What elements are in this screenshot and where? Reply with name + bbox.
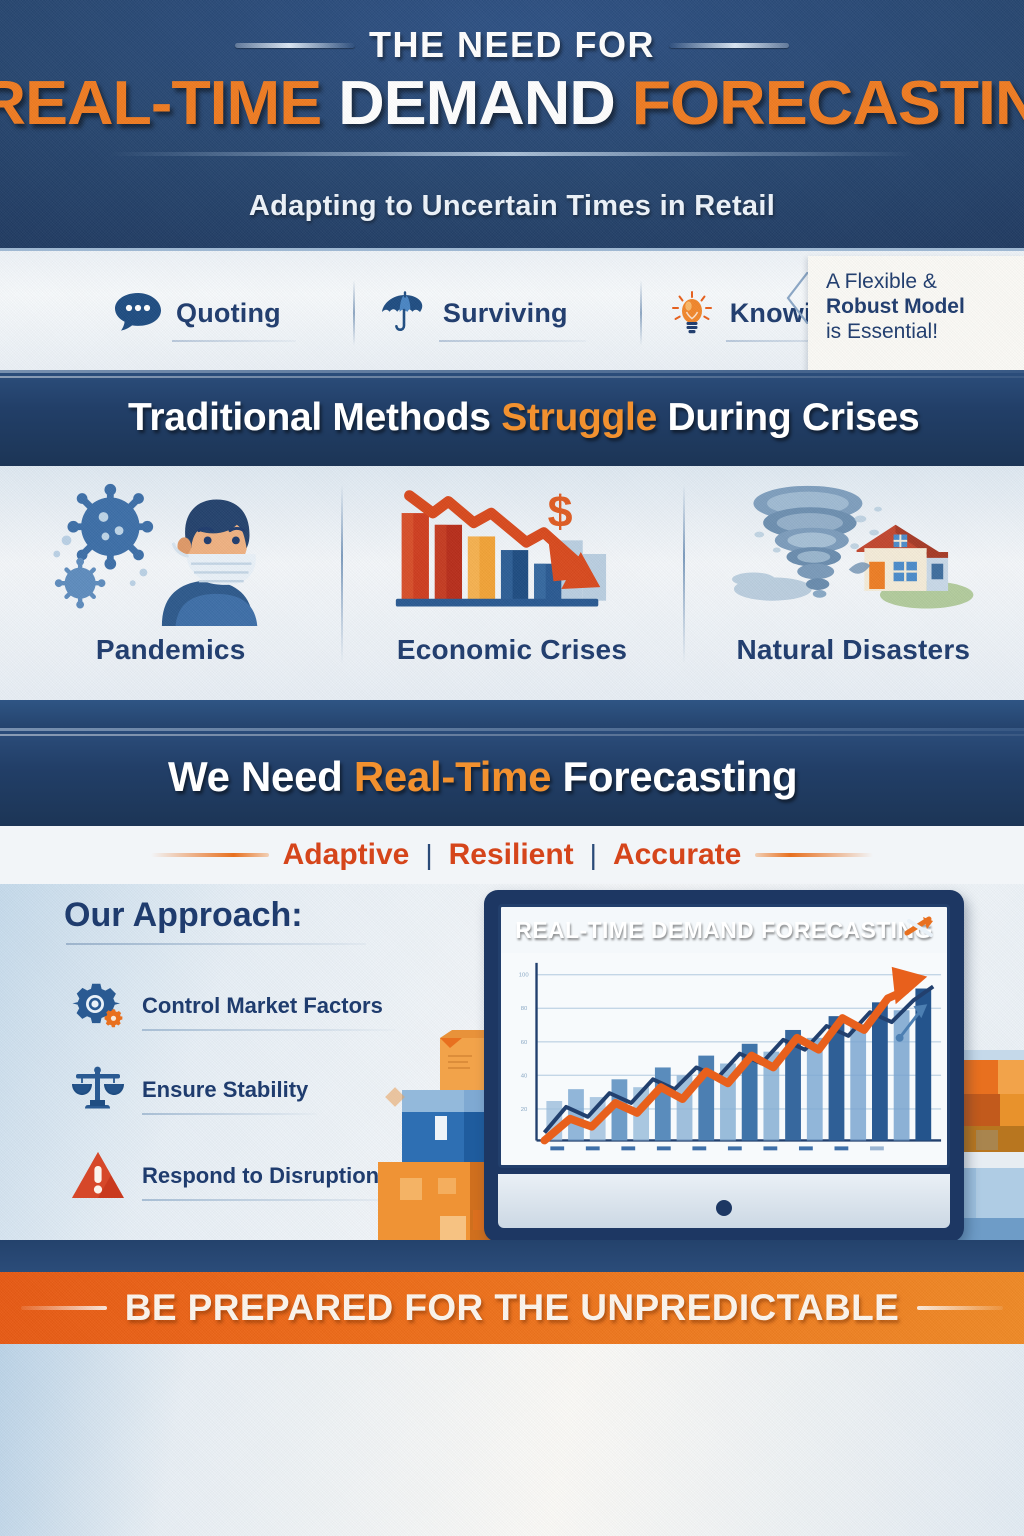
crisis-item-economic[interactable]: $ Economic Crises (341, 466, 682, 710)
approach-item-respond-to-disruptions[interactable]: Respond to Disruptions (70, 1148, 410, 1204)
cta-banner: BE PREPARED FOR THE UNPREDICTABLE (0, 1272, 1024, 1344)
gear-icon (70, 978, 126, 1034)
umbrella-icon (379, 290, 431, 336)
header-eyebrow-row: THE NEED FOR (0, 24, 1024, 66)
concept-chip-quoting[interactable]: Quoting (86, 274, 307, 352)
banner-crises-pre: Traditional Methods (128, 396, 501, 439)
monitor-screen[interactable]: REAL-TIME DEMAND FORECASTING 1008060 (498, 904, 950, 1168)
svg-text:40: 40 (521, 1073, 528, 1079)
tagline-word-accurate: Accurate (613, 838, 741, 872)
crisis-item-pandemics[interactable]: Pandemics (0, 466, 341, 710)
approach-item-ensure-stability[interactable]: Ensure Stability (70, 1062, 410, 1118)
eyebrow-rule-left (235, 43, 355, 48)
callout-line-3: is Essential! (826, 320, 1008, 345)
title-part-realtime: REAL-TIME (0, 69, 321, 138)
warning-triangle-icon (70, 1148, 126, 1204)
title-part-demand: DEMAND (338, 69, 615, 138)
forecast-chart: 1008060 4020 (501, 953, 947, 1168)
approach-label-ensure-stability: Ensure Stability (142, 1077, 308, 1103)
infographic-poster: THE NEED FOR REAL-TIME DEMAND FORECASTIN… (0, 0, 1024, 1536)
lightbulb-icon (666, 290, 718, 336)
approach-label-control-market-factors: Control Market Factors (142, 993, 383, 1019)
header-underline (110, 152, 914, 156)
scales-icon (70, 1062, 126, 1118)
header-eyebrow: THE NEED FOR (369, 24, 655, 66)
banner-traditional-text: Traditional Methods Struggle During Cris… (128, 396, 919, 440)
svg-text:60: 60 (521, 1040, 528, 1046)
banner-need-post: Forecasting (551, 753, 797, 800)
title-part-forecasting: FORECASTING (632, 69, 1024, 138)
banner-traditional-methods: Traditional Methods Struggle During Cris… (0, 370, 1024, 466)
tagline-word-resilient: Resilient (449, 838, 574, 872)
cta-text: BE PREPARED FOR THE UNPREDICTABLE (125, 1287, 899, 1329)
monitor-screen-title: REAL-TIME DEMAND FORECASTING (515, 917, 933, 944)
chip-label-surviving: Surviving (443, 298, 568, 329)
monitor-illustration: REAL-TIME DEMAND FORECASTING 1008060 (484, 890, 964, 1242)
banner-we-need: We Need Real-Time Forecasting (0, 728, 1024, 826)
tagline-separator-1: | (425, 839, 432, 871)
chip-label-quoting: Quoting (176, 298, 281, 329)
tagline-rule-left (151, 853, 269, 857)
svg-text:80: 80 (521, 1006, 528, 1012)
crises-footer-strip (0, 700, 1024, 730)
approach-label-respond-to-disruptions: Respond to Disruptions (142, 1163, 391, 1189)
page-title: REAL-TIME DEMAND FORECASTING (0, 68, 1024, 139)
banner-need-highlight: Real-Time (354, 753, 551, 800)
banner-need-pre: We Need (168, 753, 354, 800)
cta-rule-right (917, 1306, 1003, 1310)
crisis-label-pandemics: Pandemics (96, 634, 246, 666)
crisis-item-disasters[interactable]: Natural Disasters (683, 466, 1024, 710)
crisis-label-disasters: Natural Disasters (736, 634, 970, 666)
callout-pointer-icon (786, 272, 808, 324)
banner-need-text: We Need Real-Time Forecasting (168, 753, 797, 801)
chart-arrows-icon (903, 913, 937, 943)
speech-bubble-icon (112, 290, 164, 336)
svg-text:100: 100 (519, 973, 530, 979)
footer-area (0, 1344, 1024, 1536)
tagline-rule-right (755, 853, 873, 857)
header-subtitle: Adapting to Uncertain Times in Retail (0, 190, 1024, 223)
poster-header: THE NEED FOR REAL-TIME DEMAND FORECASTIN… (0, 0, 1024, 250)
svg-text:$: $ (548, 487, 573, 537)
callout-line-2: Robust Model (826, 295, 1008, 320)
declining-bar-chart-icon: $ (390, 480, 633, 626)
eyebrow-rule-right (669, 43, 789, 48)
approach-item-control-market-factors[interactable]: Control Market Factors (70, 978, 410, 1034)
callout-robust-model: A Flexible & Robust Model is Essential! (808, 256, 1024, 378)
monitor-power-dot (716, 1200, 732, 1216)
crisis-label-economic: Economic Crises (397, 634, 627, 666)
monitor-title-bar: REAL-TIME DEMAND FORECASTING (501, 907, 947, 953)
approach-title: Our Approach: (64, 896, 303, 935)
cta-rule-left (21, 1306, 107, 1310)
tornado-house-icon (732, 480, 975, 626)
banner-crises-post: During Crises (657, 396, 919, 439)
callout-line-1: A Flexible & (826, 270, 1008, 295)
svg-text:20: 20 (521, 1107, 528, 1113)
tagline-word-adaptive: Adaptive (283, 838, 410, 872)
tagline-separator-2: | (590, 839, 597, 871)
banner-crises-highlight: Struggle (501, 396, 657, 439)
virus-mask-icon (49, 480, 292, 626)
concept-chip-surviving[interactable]: Surviving (353, 274, 594, 352)
crises-panel: Pandemics (0, 466, 1024, 710)
tagline-row: Adaptive | Resilient | Accurate (0, 826, 1024, 884)
